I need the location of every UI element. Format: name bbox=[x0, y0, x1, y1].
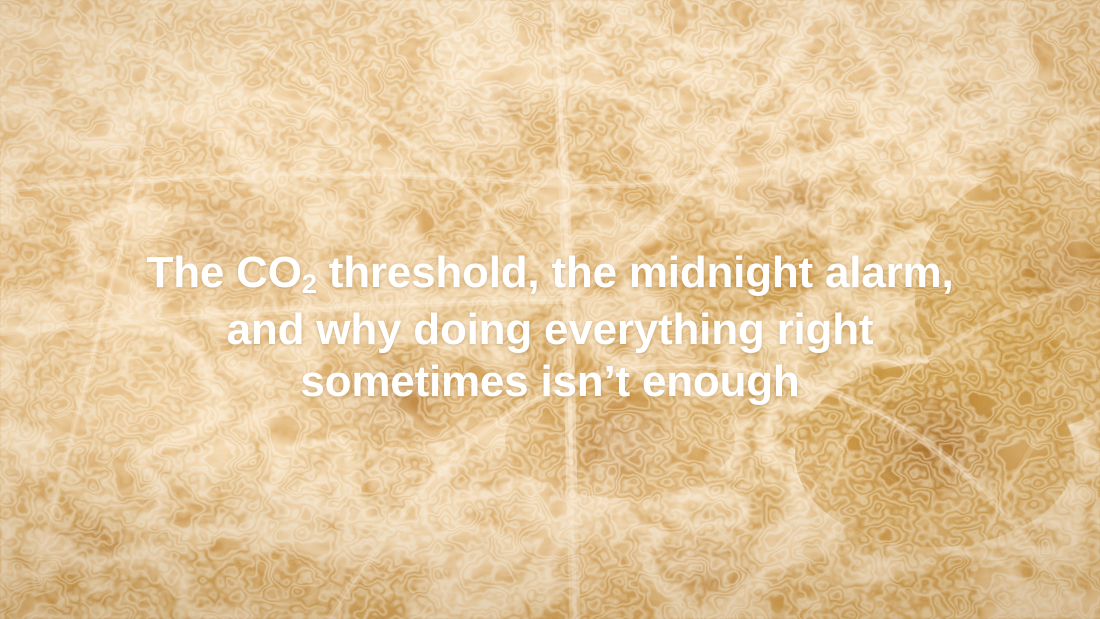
headline-line-1: The CO2 threshold, the midnight alarm, bbox=[40, 247, 1060, 304]
headline-line-1-post: threshold, the midnight alarm, bbox=[317, 248, 954, 297]
hero-banner: The CO2 threshold, the midnight alarm, a… bbox=[0, 0, 1100, 619]
hero-headline: The CO2 threshold, the midnight alarm, a… bbox=[0, 247, 1100, 408]
headline-line-2: and why doing everything right bbox=[40, 304, 1060, 356]
headline-subscript: 2 bbox=[302, 268, 317, 299]
headline-line-3: sometimes isn’t enough bbox=[40, 356, 1060, 408]
headline-line-1-pre: The CO bbox=[147, 248, 302, 297]
